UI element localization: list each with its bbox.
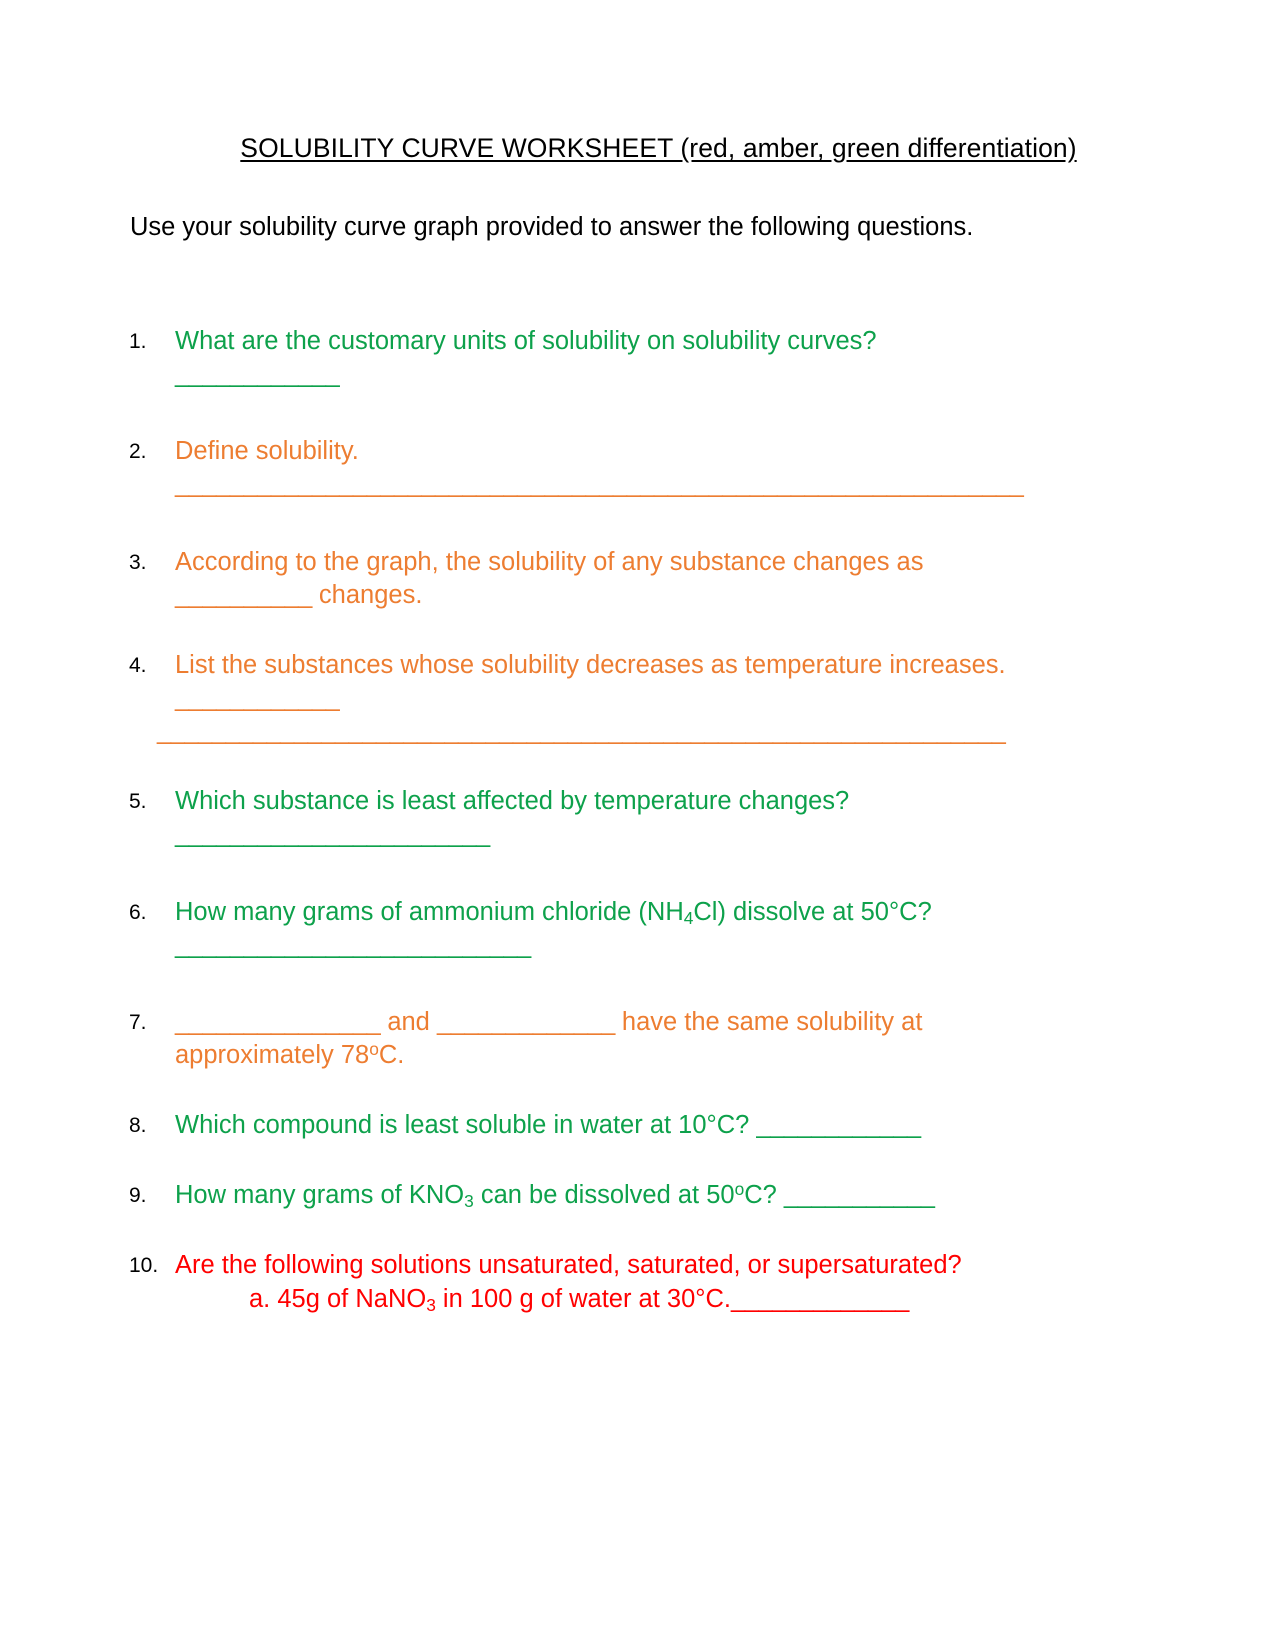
answer-blank-5[interactable]: _______________________ [175,820,490,848]
subitem-text-10a-before: 45g of NaNO [270,1285,426,1313]
answer-blank-8[interactable]: ____________ [756,1111,920,1139]
answer-blank-4b[interactable]: ________________________________________… [157,715,1138,748]
question-number-4: 4. [128,649,175,682]
question-body-5: Which substance is least affected by tem… [175,785,1138,851]
question-text-3-part1: According to the graph, the solubility o… [175,548,923,576]
question-text-9-mid: can be dissolved at 50 [474,1181,735,1209]
question-number-8: 8. [128,1109,175,1142]
page-title-row: SOLUBILITY CURVE WORKSHEET (red, amber, … [0,133,1275,163]
question-text-6-before: How many grams of ammonium chloride (NH [175,898,684,926]
answer-blank-2[interactable]: ________________________________________… [175,470,1023,498]
question-body-4: List the substances whose solubility dec… [175,649,1138,748]
question-text-2: Define solubility. [175,437,359,465]
spacer [128,962,1138,1006]
question-subitem-10a: a. 45g of NaNO3 in 100 g of water at 30°… [175,1283,1138,1316]
question-number-3: 3. [128,546,175,579]
question-text-5: Which substance is least affected by tem… [175,787,849,815]
question-item-10: 10. Are the following solutions unsatura… [128,1249,1138,1315]
question-text-9-before: How many grams of KNO [175,1181,464,1209]
question-text-4: List the substances whose solubility dec… [175,651,1006,679]
spacer [128,391,1138,435]
question-text-6-after: Cl) dissolve at 50°C? [693,898,931,926]
question-body-6: How many grams of ammonium chloride (NH4… [175,896,1138,962]
question-item-4: 4. List the substances whose solubility … [128,649,1138,748]
question-item-9: 9. How many grams of KNO3 can be dissolv… [128,1179,1138,1212]
answer-blank-9[interactable]: ___________ [784,1181,935,1209]
question-body-10: Are the following solutions unsaturated,… [175,1249,1138,1315]
question-text-10: Are the following solutions unsaturated,… [175,1251,962,1279]
question-item-5: 5. Which substance is least affected by … [128,785,1138,851]
question-text-7-line2-before: approximately 78 [175,1041,369,1069]
formula-subscript-nano3: 3 [426,1294,436,1314]
question-body-9: How many grams of KNO3 can be dissolved … [175,1179,1138,1212]
question-body-1: What are the customary units of solubili… [175,325,1138,391]
formula-subscript-kno3: 3 [464,1191,474,1211]
question-item-8: 8. Which compound is least soluble in wa… [128,1109,1138,1142]
question-number-6: 6. [128,896,175,929]
formula-subscript-nh4cl: 4 [684,907,694,927]
question-item-3: 3. According to the graph, the solubilit… [128,546,1138,612]
question-body-8: Which compound is least soluble in water… [175,1109,1138,1142]
intro-instruction: Use your solubility curve graph provided… [130,212,973,242]
question-body-2: Define solubility. _____________________… [175,435,1138,501]
answer-blank-7a[interactable]: _______________ [175,1008,380,1036]
question-text-7-mid: and [380,1008,437,1036]
question-number-9: 9. [128,1179,175,1212]
question-number-5: 5. [128,785,175,818]
question-text-3-part2: changes. [312,581,423,609]
spacer [128,612,1138,649]
question-item-6: 6. How many grams of ammonium chloride (… [128,896,1138,962]
question-body-3: According to the graph, the solubility o… [175,546,1138,612]
answer-blank-4a[interactable]: ____________ [175,684,339,712]
spacer [128,748,1138,785]
answer-blank-6[interactable]: __________________________ [175,931,531,959]
inline-blank-3[interactable]: __________ [175,581,312,609]
question-number-7: 7. [128,1006,175,1039]
question-text-9-after: C? [744,1181,784,1209]
question-item-7: 7. _______________ and _____________ hav… [128,1006,1138,1072]
spacer [128,1142,1138,1179]
question-item-2: 2. Define solubility. __________________… [128,435,1138,501]
question-number-2: 2. [128,435,175,468]
question-text-8: Which compound is least soluble in water… [175,1111,756,1139]
answer-blank-10a[interactable]: _____________ [731,1285,909,1313]
answer-blank-7b[interactable]: _____________ [437,1008,615,1036]
spacer [128,1212,1138,1249]
degree-superscript-50: o [735,1179,745,1199]
spacer [128,852,1138,896]
spacer [128,502,1138,546]
question-item-1: 1. What are the customary units of solub… [128,325,1138,391]
question-text-7-line2-after: C. [379,1041,405,1069]
question-list: 1. What are the customary units of solub… [128,325,1138,1316]
question-text-1: What are the customary units of solubili… [175,327,877,355]
question-number-10: 10. [128,1249,175,1282]
worksheet-page: SOLUBILITY CURVE WORKSHEET (red, amber, … [0,0,1275,1650]
spacer [128,1072,1138,1109]
answer-blank-1[interactable]: ____________ [175,360,339,388]
page-title: SOLUBILITY CURVE WORKSHEET (red, amber, … [240,133,1076,163]
question-text-7-after: have the same solubility at [615,1008,923,1036]
subitem-label-10a: a. [249,1285,270,1313]
subitem-text-10a-after: in 100 g of water at 30°C. [436,1285,731,1313]
question-number-1: 1. [128,325,175,358]
question-body-7: _______________ and _____________ have t… [175,1006,1138,1072]
degree-superscript-78: o [369,1039,379,1059]
